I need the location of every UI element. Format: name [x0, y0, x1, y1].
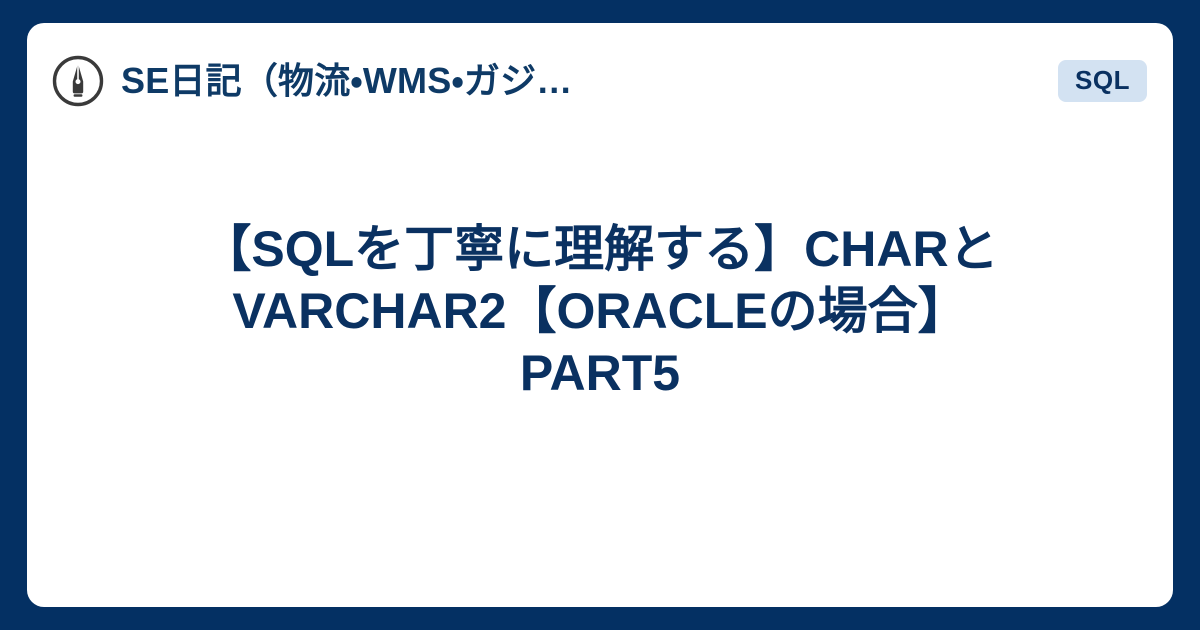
content-card: SE日記（物流・WMS・ガジ… SQL 【SQLを丁寧に理解する】CHARとVA…: [27, 23, 1173, 607]
site-title: SE日記（物流・WMS・ガジ…: [121, 61, 572, 101]
card-main: 【SQLを丁寧に理解する】CHARとVARCHAR2【ORACLEの場合】PAR…: [27, 138, 1173, 607]
post-title: 【SQLを丁寧に理解する】CHARとVARCHAR2【ORACLEの場合】PAR…: [170, 218, 1030, 404]
fountain-pen-nib-in-circle-icon: [51, 54, 105, 108]
card-header: SE日記（物流・WMS・ガジ… SQL: [27, 23, 1173, 138]
og-image-canvas: SE日記（物流・WMS・ガジ… SQL 【SQLを丁寧に理解する】CHARとVA…: [0, 0, 1200, 630]
site-identity[interactable]: SE日記（物流・WMS・ガジ…: [51, 54, 1040, 108]
category-badge[interactable]: SQL: [1058, 60, 1147, 102]
